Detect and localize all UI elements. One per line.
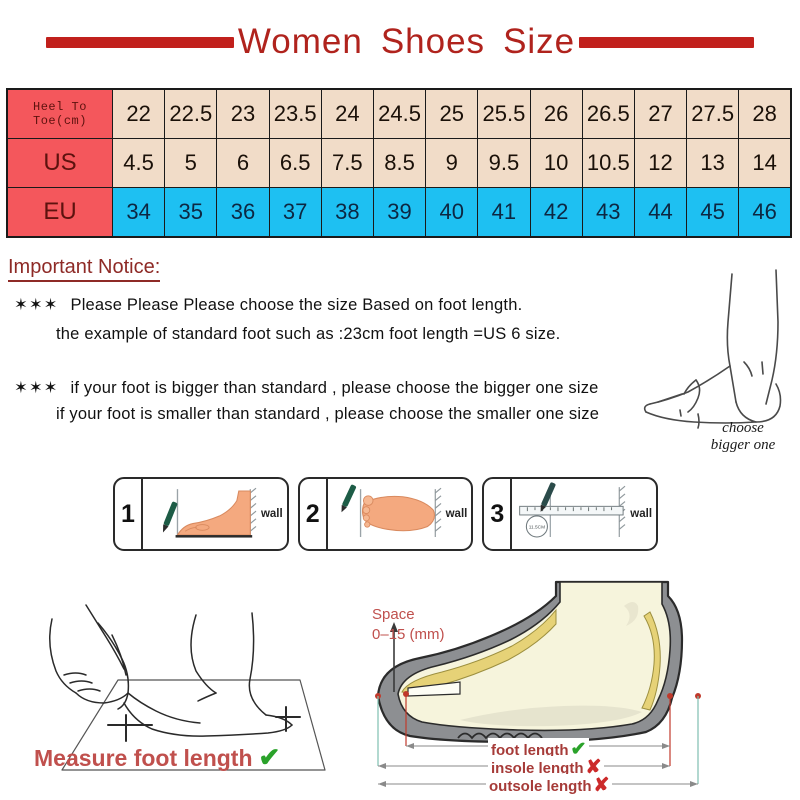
cell-cm-7: 25.5 (478, 89, 530, 139)
cell-us-1: 5 (165, 139, 217, 188)
cell-eu-12: 46 (739, 188, 791, 238)
cell-eu-9: 43 (582, 188, 634, 238)
cell-us-6: 9 (426, 139, 478, 188)
notice-line-2: the example of standard foot such as :23… (56, 325, 560, 344)
table-row-eu: EU 34 35 36 37 38 39 40 41 42 43 44 45 4… (7, 188, 791, 238)
step-3-ruler-badge: 11.5CM (529, 524, 545, 530)
cell-cm-10: 27 (634, 89, 686, 139)
cell-eu-4: 38 (321, 188, 373, 238)
cell-us-10: 12 (634, 139, 686, 188)
cell-cm-8: 26 (530, 89, 582, 139)
cell-cm-4: 24 (321, 89, 373, 139)
notice-line-1: ✶✶✶Please Please Please choose the size … (14, 295, 522, 315)
cell-eu-3: 37 (269, 188, 321, 238)
choose-bigger-line-1: choose (688, 420, 798, 437)
step-2-wall-label: wall (446, 508, 468, 520)
size-conversion-table: Heel To Toe(cm) 22 22.5 23 23.5 24 24.5 … (6, 88, 792, 238)
space-label-line-1: Space (372, 605, 445, 625)
space-gap-label: Space 0–15 (mm) (372, 605, 445, 646)
outsole-length-text: outsole length (489, 778, 592, 795)
step-2-number: 2 (300, 479, 328, 549)
row-header-eu: EU (7, 188, 113, 238)
page-title-word-2: Shoes (381, 22, 485, 61)
notice-line-2-text: the example of standard foot such as :23… (56, 325, 560, 344)
cell-cm-1: 22.5 (165, 89, 217, 139)
step-3-illustration: 11.5CM wall (512, 479, 656, 549)
outsole-length-label: outsole length✘ (486, 774, 612, 797)
cell-cm-2: 23 (217, 89, 269, 139)
page-title-word-1: Women (238, 22, 363, 61)
page-title-word-3: Size (503, 22, 575, 61)
page-title-bar: WomenShoesSize (0, 18, 800, 66)
cell-us-5: 8.5 (373, 139, 425, 188)
cell-eu-10: 44 (634, 188, 686, 238)
title-rule-right (579, 37, 754, 48)
notice-line-3-text: if your foot is bigger than standard , p… (70, 379, 598, 398)
cell-eu-7: 41 (478, 188, 530, 238)
cell-cm-0: 22 (113, 89, 165, 139)
cell-us-9: 10.5 (582, 139, 634, 188)
row-header-us: US (7, 139, 113, 188)
notice-line-4: if your foot is smaller than standard , … (56, 405, 599, 424)
step-2: 2 (298, 477, 474, 551)
cell-cm-9: 26.5 (582, 89, 634, 139)
cell-eu-8: 42 (530, 188, 582, 238)
step-3-number: 3 (484, 479, 512, 549)
step-1-wall-label: wall (261, 508, 283, 520)
title-rule-left (46, 37, 234, 48)
cell-cm-5: 24.5 (373, 89, 425, 139)
cell-cm-3: 23.5 (269, 89, 321, 139)
measure-foot-length-caption: Measure foot length✔ (34, 742, 280, 773)
cell-eu-6: 40 (426, 188, 478, 238)
cell-us-3: 6.5 (269, 139, 321, 188)
outsole-length-cross-icon: ✘ (594, 775, 610, 796)
measure-caption-text: Measure foot length (34, 745, 253, 771)
important-notice-heading: Important Notice: (8, 256, 160, 282)
step-2-illustration: wall (328, 479, 472, 549)
step-1-illustration: wall (143, 479, 287, 549)
notice-bullet-2: ✶✶✶ (14, 378, 58, 398)
measure-steps-row: 1 (113, 477, 658, 551)
table-row-us: US 4.5 5 6 6.5 7.5 8.5 9 9.5 10 10.5 12 … (7, 139, 791, 188)
choose-bigger-one-caption: choose bigger one (688, 420, 798, 455)
cell-us-11: 13 (687, 139, 739, 188)
notice-bullet-1: ✶✶✶ (14, 295, 58, 315)
step-1-number: 1 (115, 479, 143, 549)
measure-check-icon: ✔ (259, 742, 281, 772)
row-header-heel-to-toe: Heel To Toe(cm) (7, 89, 113, 139)
notice-line-4-text: if your foot is smaller than standard , … (56, 405, 599, 424)
cell-eu-2: 36 (217, 188, 269, 238)
cell-us-8: 10 (530, 139, 582, 188)
cell-us-12: 14 (739, 139, 791, 188)
cell-eu-0: 34 (113, 188, 165, 238)
cell-eu-1: 35 (165, 188, 217, 238)
page-title: WomenShoesSize (238, 22, 575, 62)
size-chart-page: WomenShoesSize Heel To Toe(cm) 22 22.5 2… (0, 0, 800, 800)
cell-us-4: 7.5 (321, 139, 373, 188)
cell-cm-11: 27.5 (687, 89, 739, 139)
step-1: 1 (113, 477, 289, 551)
table-row-cm: Heel To Toe(cm) 22 22.5 23 23.5 24 24.5 … (7, 89, 791, 139)
cell-us-0: 4.5 (113, 139, 165, 188)
cell-eu-5: 39 (373, 188, 425, 238)
cell-eu-11: 45 (687, 188, 739, 238)
step-3: 3 (482, 477, 658, 551)
notice-line-1-text: Please Please Please choose the size Bas… (70, 296, 522, 315)
notice-line-3: ✶✶✶if your foot is bigger than standard … (14, 378, 599, 398)
cell-cm-12: 28 (739, 89, 791, 139)
cell-us-2: 6 (217, 139, 269, 188)
step-3-wall-label: wall (630, 508, 652, 520)
space-label-line-2: 0–15 (mm) (372, 625, 445, 645)
cell-us-7: 9.5 (478, 139, 530, 188)
cell-cm-6: 25 (426, 89, 478, 139)
choose-bigger-line-2: bigger one (688, 437, 798, 454)
